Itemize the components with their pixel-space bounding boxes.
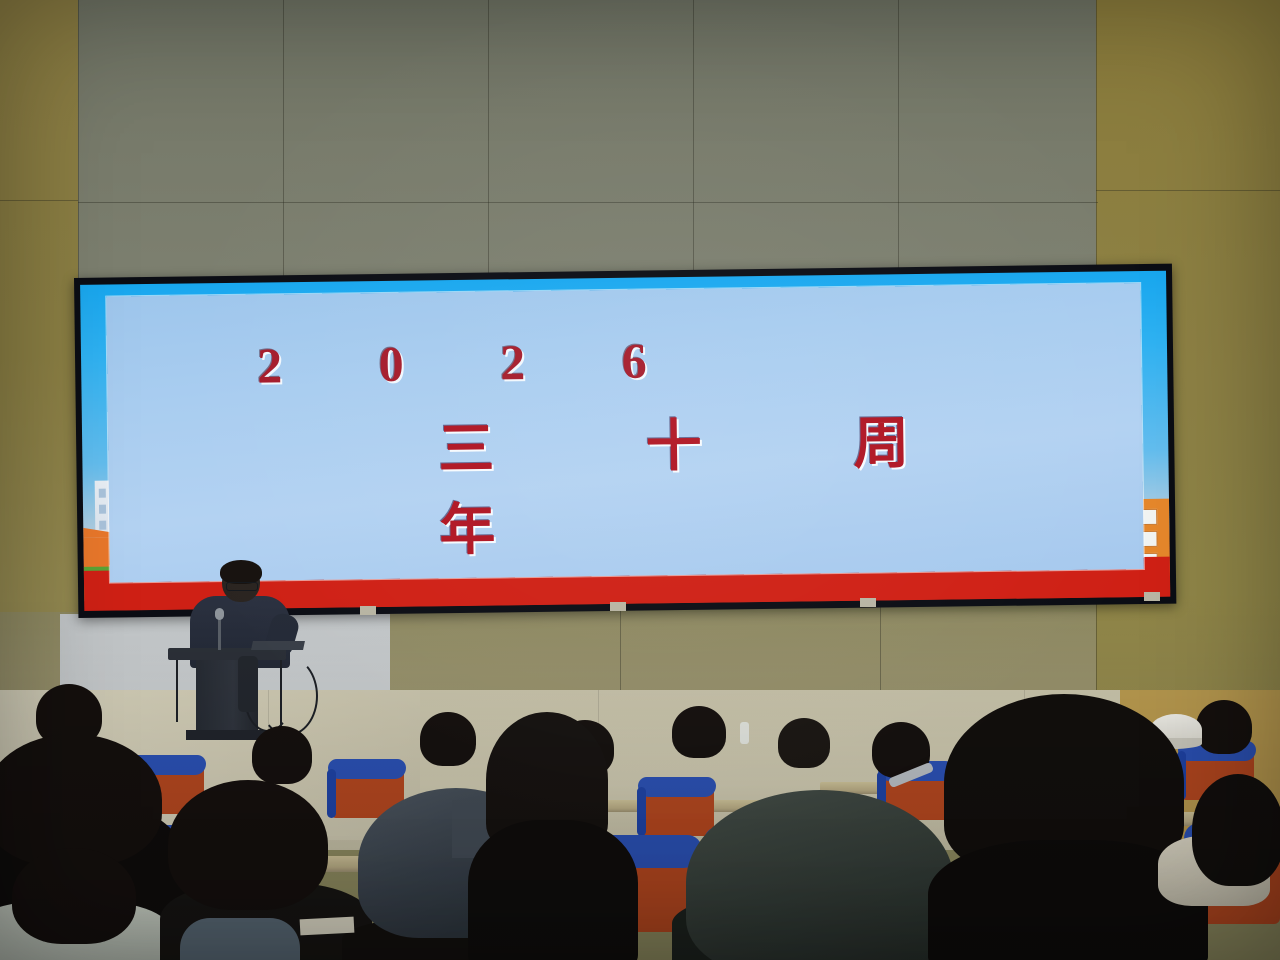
screen-mount-bracket [860,598,876,607]
wall-panel-center [78,0,1098,290]
attendee-head [1192,774,1280,886]
attendee-head [420,712,476,766]
podium-cable [176,660,178,722]
screen-mount-bracket [360,606,376,615]
podium-equipment [238,656,258,712]
presenter-hair [220,560,262,584]
wall-panel-left [0,0,78,640]
wall-seam [898,0,899,290]
podium-cable [280,660,282,730]
attendee-head [168,780,328,910]
presentation-slide: 2 0 2 6 三 十 周 年 [106,283,1144,583]
microphone-icon [215,608,224,620]
slide-year-text: 2 0 2 6 [257,331,689,395]
attendee-head [1196,700,1252,754]
attendee-head [778,718,830,768]
eyeglasses-icon [226,582,258,591]
attendee-torso [468,820,638,960]
attendee-head [252,726,312,784]
attendee-head [672,706,726,758]
attendee-head [12,848,136,944]
auditorium-scene: 2 0 2 6 三 十 周 年 [0,0,1280,960]
seat[interactable] [640,778,714,836]
wall-seam [693,0,694,290]
attendee-green-beanie [686,790,954,960]
wall-seam [488,0,489,290]
wall-seam [78,202,1098,203]
screen-mount-bracket [610,602,626,611]
screen-mount-bracket [1144,592,1160,601]
slide-anniversary-text: 三 十 周 年 [438,395,1144,566]
water-bottle [740,722,749,744]
paper-sheet [300,917,355,936]
wall-seam [283,0,284,290]
wall-seam [0,200,78,201]
wall-seam [1096,190,1280,191]
laptop-icon[interactable] [251,641,305,650]
attendee-head [0,734,162,866]
attendee-collar [180,918,300,960]
wall-seam [78,0,79,290]
